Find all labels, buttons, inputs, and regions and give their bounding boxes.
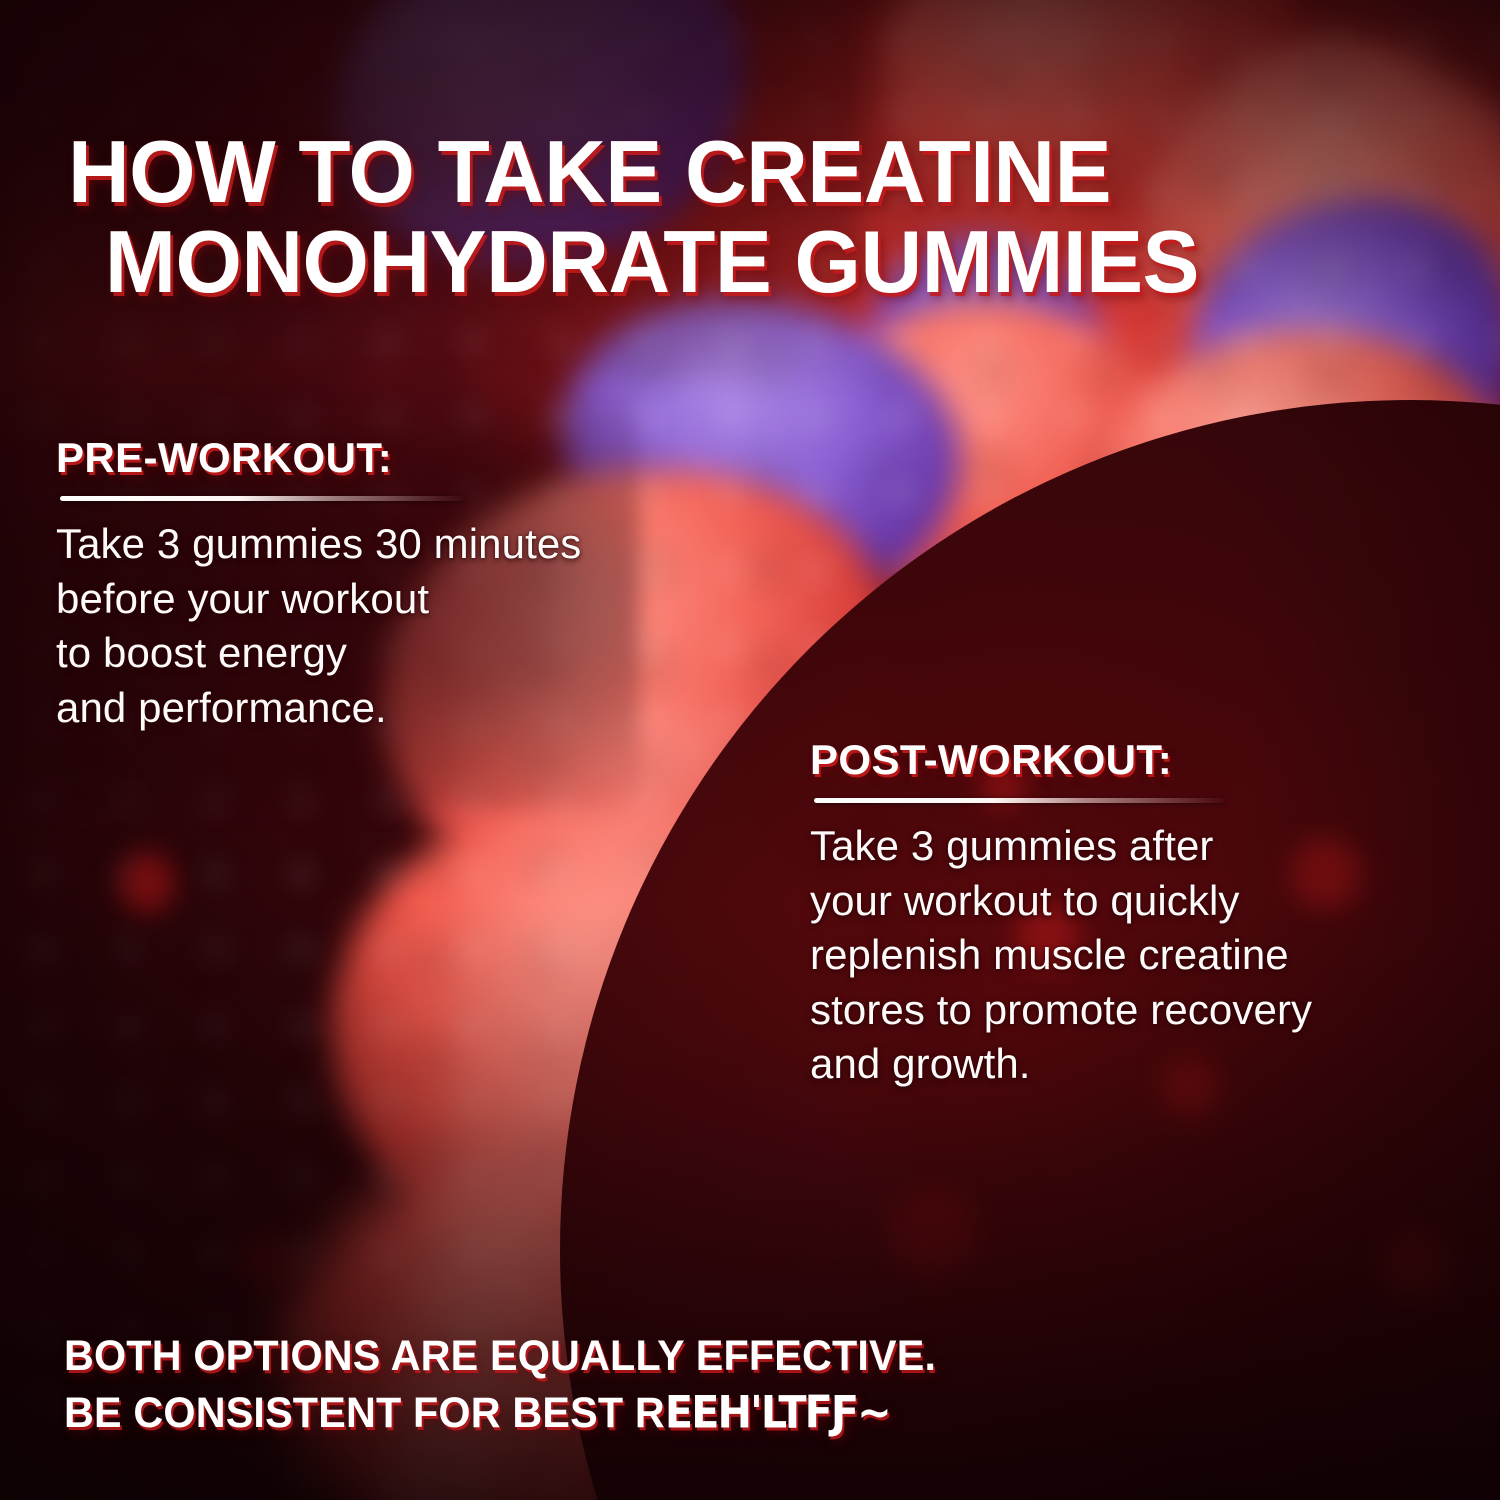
post-workout-line-3: replenish muscle creatine	[810, 928, 1470, 983]
pre-workout-line-4: and performance.	[56, 681, 756, 736]
section-post-workout: POST-WORKOUT: Take 3 gummies after your …	[810, 736, 1470, 1092]
section-rule-pre-workout	[60, 496, 464, 501]
section-body-post-workout: Take 3 gummies after your workout to qui…	[810, 819, 1470, 1092]
footer-line-2-prefix: BE CONSISTENT FOR BEST R	[64, 1389, 665, 1437]
post-workout-line-2: your workout to quickly	[810, 874, 1470, 929]
pre-workout-line-3: to boost energy	[56, 626, 756, 681]
post-workout-line-5: and growth.	[810, 1037, 1470, 1092]
poster-content: HOW TO TAKE CREATINE MONOHYDRATE GUMMIES…	[0, 0, 1500, 1500]
poster-canvas: HOW TO TAKE CREATINE MONOHYDRATE GUMMIES…	[0, 0, 1500, 1500]
pre-workout-line-2: before your workout	[56, 572, 756, 627]
footer-line-1: BOTH OPTIONS ARE EQUALLY EFFECTIVE.	[64, 1328, 1216, 1385]
page-title-line-2: MONOHYDRATE GUMMIES	[105, 217, 1358, 307]
page-title: HOW TO TAKE CREATINE MONOHYDRATE GUMMIES	[68, 127, 1358, 307]
section-title-post-workout: POST-WORKOUT:	[810, 736, 1470, 784]
section-pre-workout: PRE-WORKOUT: Take 3 gummies 30 minutes b…	[56, 434, 756, 735]
footer-glitched-word: EEH'LTFƒ~	[665, 1384, 890, 1443]
section-body-pre-workout: Take 3 gummies 30 minutes before your wo…	[56, 517, 756, 735]
section-title-pre-workout: PRE-WORKOUT:	[56, 434, 756, 482]
pre-workout-line-1: Take 3 gummies 30 minutes	[56, 517, 756, 572]
page-title-line-1: HOW TO TAKE CREATINE	[68, 122, 1111, 221]
footer-note: BOTH OPTIONS ARE EQUALLY EFFECTIVE. BE C…	[64, 1328, 1216, 1442]
post-workout-line-1: Take 3 gummies after	[810, 819, 1470, 874]
post-workout-line-4: stores to promote recovery	[810, 983, 1470, 1038]
footer-line-2: BE CONSISTENT FOR BEST REEH'LTFƒ~	[64, 1385, 1216, 1442]
section-rule-post-workout	[814, 798, 1226, 803]
